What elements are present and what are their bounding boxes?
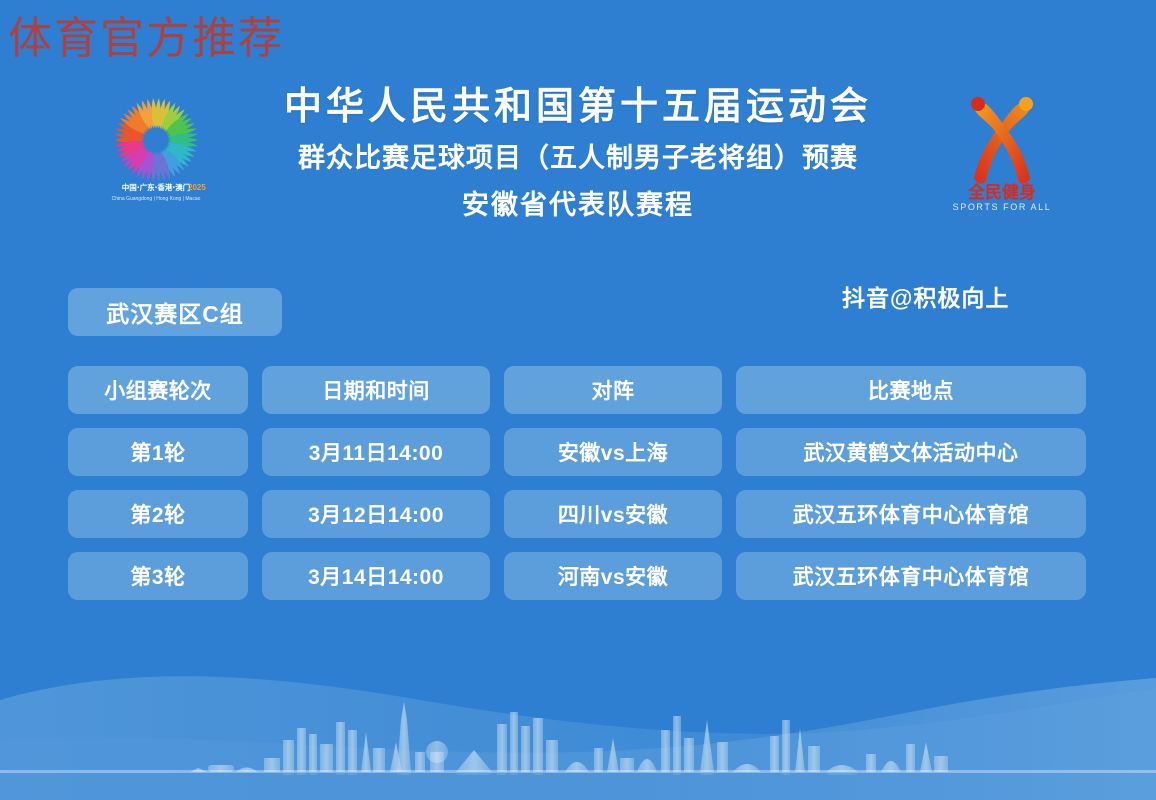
column-header-venue: 比赛地点 (736, 366, 1086, 414)
table-header-row: 小组赛轮次 日期和时间 对阵 比赛地点 (68, 366, 1092, 414)
cell-venue: 武汉五环体育中心体育馆 (736, 490, 1086, 538)
schedule-table: 小组赛轮次 日期和时间 对阵 比赛地点 第1轮 3月11日14:00 安徽vs上… (68, 366, 1092, 614)
page-subtitle: 群众比赛足球项目（五人制男子老将组）预赛 (198, 140, 958, 176)
table-row: 第3轮 3月14日14:00 河南vs安徽 武汉五环体育中心体育馆 (68, 552, 1092, 600)
cell-datetime: 3月11日14:00 (262, 428, 490, 476)
sports-for-all-en: SPORTS FOR ALL (953, 202, 1052, 212)
page-title: 中华人民共和国第十五届运动会 (198, 84, 958, 130)
page-team-line: 安徽省代表队赛程 (198, 187, 958, 223)
cell-matchup: 安徽vs上海 (504, 428, 722, 476)
column-header-datetime: 日期和时间 (262, 366, 490, 414)
column-header-round: 小组赛轮次 (68, 366, 248, 414)
table-row: 第1轮 3月11日14:00 安徽vs上海 武汉黄鹤文体活动中心 (68, 428, 1092, 476)
group-badge: 武汉赛区C组 (68, 288, 282, 336)
cell-datetime: 3月12日14:00 (262, 490, 490, 538)
cell-venue: 武汉黄鹤文体活动中心 (736, 428, 1086, 476)
watermark-text: 体育官方推荐 (8, 2, 284, 66)
sports-for-all-logo: 全民健身 SPORTS FOR ALL (940, 80, 1064, 214)
title-block: 中华人民共和国第十五届运动会 群众比赛足球项目（五人制男子老将组）预赛 安徽省代… (198, 78, 958, 223)
cell-round: 第1轮 (68, 428, 248, 476)
cell-matchup: 河南vs安徽 (504, 552, 722, 600)
douyin-handle: 抖音@积极向上 (842, 279, 1009, 313)
emblem-year-text: 2025 (188, 183, 206, 192)
cell-datetime: 3月14日14:00 (262, 552, 490, 600)
cell-matchup: 四川vs安徽 (504, 490, 722, 538)
column-header-matchup: 对阵 (504, 366, 722, 414)
national-games-emblem-logo: 中国·广东·香港·澳门 2025 China Guangdong | Hong … (100, 86, 212, 212)
emblem-cn-text: 中国·广东·香港·澳门 (122, 182, 191, 192)
cell-round: 第3轮 (68, 552, 248, 600)
header: 中国·广东·香港·澳门 2025 China Guangdong | Hong … (0, 78, 1156, 258)
emblem-en-text: China Guangdong | Hong Kong | Macao (112, 196, 201, 202)
sports-for-all-cn: 全民健身 (967, 182, 1036, 203)
cell-venue: 武汉五环体育中心体育馆 (736, 552, 1086, 600)
table-row: 第2轮 3月12日14:00 四川vs安徽 武汉五环体育中心体育馆 (68, 490, 1092, 538)
cell-round: 第2轮 (68, 490, 248, 538)
